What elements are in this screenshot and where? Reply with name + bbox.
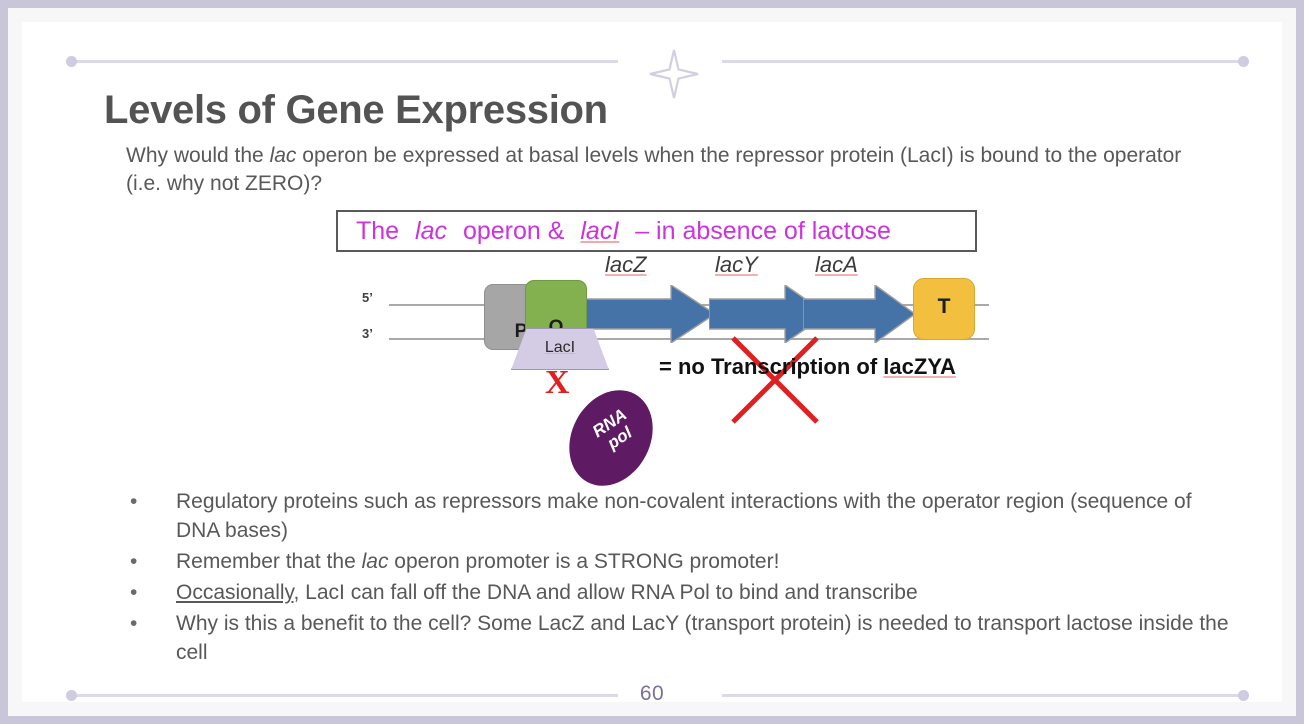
list-item: • Regulatory proteins such as repressors…: [126, 488, 1236, 546]
banner-italic-lac: lac: [406, 217, 447, 245]
gene-arrow-lacZ: [575, 285, 715, 343]
top-rule-left-dot: [66, 56, 77, 67]
bullet-text-4: Why is this a benefit to the cell? Some …: [176, 612, 1229, 664]
strand-label-3prime: 3’: [362, 326, 373, 341]
strand-label-5prime: 5’: [362, 290, 373, 305]
banner-part2: operon &: [447, 217, 571, 245]
bullet-marker: •: [130, 488, 137, 517]
x-mark-icon-promoter: X: [545, 364, 570, 402]
banner-part1: The: [347, 217, 406, 245]
terminator-box: T: [913, 278, 975, 340]
top-rule-left: [70, 60, 618, 63]
slide-inner-margin: Levels of Gene Expression Why would the …: [8, 8, 1296, 716]
intro-paragraph: Why would the lac operon be expressed at…: [126, 142, 1216, 198]
list-item: • Occasionally, LacI can fall off the DN…: [126, 579, 1236, 608]
top-rule-right: [722, 60, 1246, 63]
gene-label-lacZ: lacZ: [605, 252, 647, 278]
repressor-label: LacI: [512, 339, 608, 357]
intro-italic-lac: lac: [270, 144, 297, 167]
top-rule-right-dot: [1238, 56, 1249, 67]
page-title: Levels of Gene Expression: [104, 88, 608, 133]
figure-banner: The lac operon & lacI – in absence of la…: [336, 210, 977, 252]
list-item: • Why is this a benefit to the cell? Som…: [126, 610, 1236, 668]
intro-text-part1: Why would the: [126, 144, 270, 167]
four-point-star-icon: [648, 48, 700, 100]
lac-operon-figure: The lac operon & lacI – in absence of la…: [329, 202, 1015, 480]
bullet-text-2: Remember that the lac operon promoter is…: [176, 550, 779, 573]
list-item: • Remember that the lac operon promoter …: [126, 548, 1236, 577]
bullet-text-3: Occasionally, LacI can fall off the DNA …: [176, 581, 918, 604]
bullet-marker: •: [130, 610, 137, 639]
page-number: 60: [22, 682, 1282, 706]
slide-page: Levels of Gene Expression Why would the …: [22, 22, 1282, 702]
no-transcription-genes: lacZYA: [883, 354, 956, 379]
bullet-text-1: Regulatory proteins such as repressors m…: [176, 490, 1192, 542]
bullet-list: • Regulatory proteins such as repressors…: [126, 488, 1236, 670]
gene-label-lacY: lacY: [715, 252, 758, 278]
rna-polymerase-label: RNA pol: [573, 394, 658, 467]
terminator-label: T: [914, 295, 974, 319]
no-transcription-prefix: = no Transcription of: [659, 354, 883, 379]
gene-label-lacA: lacA: [815, 252, 858, 278]
bullet-marker: •: [130, 579, 137, 608]
x-mark-icon-transcription: [727, 332, 823, 428]
rna-polymerase-shape: RNA pol: [553, 376, 669, 501]
slide-frame: Levels of Gene Expression Why would the …: [0, 0, 1304, 724]
banner-underline-lacI: lacI: [571, 217, 619, 245]
banner-part3: – in absence of lactose: [619, 217, 891, 245]
bullet-marker: •: [130, 548, 137, 577]
no-transcription-text: = no Transcription of lacZYA: [659, 354, 956, 380]
